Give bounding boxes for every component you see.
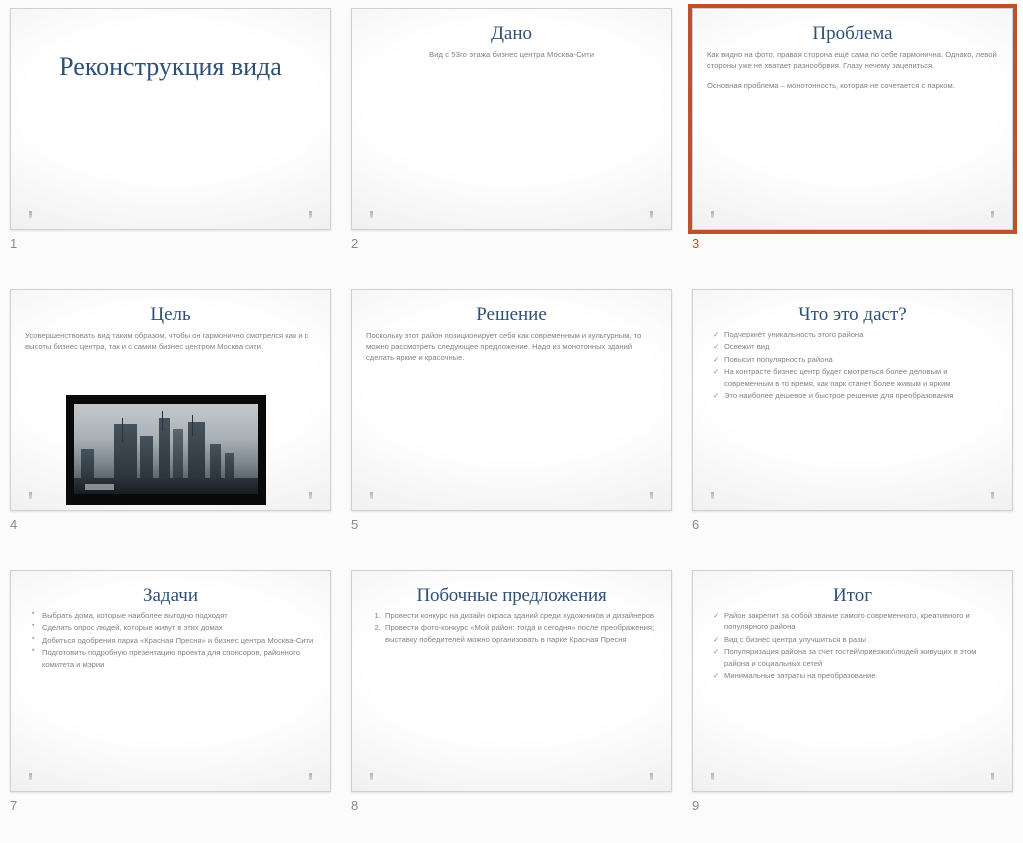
slide-corner-mark-right — [309, 492, 312, 499]
list-item: Освежит вид — [713, 341, 998, 352]
slide-title-7: Задачи — [25, 586, 316, 606]
list-item: Повысит популярность района — [713, 354, 998, 365]
slide-number-7: 7 — [10, 798, 331, 813]
slide-corner-mark-right — [991, 211, 994, 218]
slide-corner-mark-left — [29, 492, 32, 499]
slide-title-9: Итог — [707, 586, 998, 606]
slide-number-9: 9 — [692, 798, 1013, 813]
slide-thumbnail-4[interactable]: Цель Усовершенствовать вид таким образом… — [10, 289, 331, 511]
list-item: Это наиболее дешевое и быстрое решение д… — [713, 390, 998, 401]
slide-bullet-list: Район закрепит за собой звание самого со… — [707, 610, 998, 681]
slide-corner-mark-left — [711, 773, 714, 780]
list-item: Выбрать дома, которые наиболее выгодно п… — [31, 610, 316, 621]
slide-corner-mark-right — [309, 211, 312, 218]
list-item: Вид с бизнес центра улучшиться в разы — [713, 634, 998, 645]
slide-cell-6[interactable]: Что это даст? Подчеркнёт уникальность эт… — [682, 281, 1023, 562]
slide-number-2: 2 — [351, 236, 672, 251]
slide-thumbnail-3[interactable]: Проблема Как видно на фото, правая сторо… — [692, 8, 1013, 230]
slide-number-4: 4 — [10, 517, 331, 532]
slide-thumbnail-6[interactable]: Что это даст? Подчеркнёт уникальность эт… — [692, 289, 1013, 511]
slide-title-5: Решение — [366, 305, 657, 325]
list-item: Провести фото-конкурс «Мой район: тогда … — [383, 622, 657, 645]
photo-watermark — [85, 484, 114, 490]
slide-title-6: Что это даст? — [707, 305, 998, 325]
slide-corner-mark-left — [370, 492, 373, 499]
slide-thumbnail-1[interactable]: Реконструкция вида — [10, 8, 331, 230]
slide-corner-mark-left — [29, 211, 32, 218]
slide-paragraph-1: Усовершенствовать вид таким образом, что… — [25, 330, 316, 352]
list-item: На контрасте бизнес центр будет смотреть… — [713, 366, 998, 389]
slide-subtitle-2: Вид с 53го этажа бизнес центра Москва-Си… — [366, 50, 657, 59]
slide-corner-mark-right — [650, 492, 653, 499]
slide-corner-mark-left — [711, 492, 714, 499]
slide-title-2: Дано — [366, 24, 657, 44]
list-item: Популяризация района за счет гостей\прие… — [713, 646, 998, 669]
slide-paragraph-2: Основная проблема – монотонность, котора… — [707, 80, 998, 91]
slide-title-4: Цель — [25, 305, 316, 325]
slide-thumbnail-9[interactable]: Итог Район закрепит за собой звание само… — [692, 570, 1013, 792]
slide-grid: Реконструкция вида 1 Дано Вид с 53го эта… — [0, 0, 1023, 843]
list-item: Подчеркнёт уникальность этого района — [713, 329, 998, 340]
slide-corner-mark-right — [650, 773, 653, 780]
slide-title-3: Проблема — [707, 24, 998, 44]
slide-cell-7[interactable]: Задачи Выбрать дома, которые наиболее вы… — [0, 562, 341, 843]
slide-number-5: 5 — [351, 517, 672, 532]
moscow-city-towers-image — [66, 395, 266, 505]
list-item: Добиться одобрения парка «Красная Пресня… — [31, 635, 316, 646]
list-item: Провести конкурс на дизайн окраса зданий… — [383, 610, 657, 621]
list-item: Сделать опрос людей, которые живут в эти… — [31, 622, 316, 633]
slide-bullet-list: Выбрать дома, которые наиболее выгодно п… — [25, 610, 316, 670]
slide-corner-mark-right — [991, 492, 994, 499]
slide-thumbnail-5[interactable]: Решение Поскольку этот район позициониру… — [351, 289, 672, 511]
slide-cell-4[interactable]: Цель Усовершенствовать вид таким образом… — [0, 281, 341, 562]
slide-cell-1[interactable]: Реконструкция вида 1 — [0, 0, 341, 281]
slide-cell-3[interactable]: Проблема Как видно на фото, правая сторо… — [682, 0, 1023, 281]
slide-corner-mark-left — [370, 211, 373, 218]
slide-corner-mark-right — [991, 773, 994, 780]
list-item: Подготовить подробную презентацию проект… — [31, 647, 316, 670]
slide-number-6: 6 — [692, 517, 1013, 532]
slide-number-3: 3 — [692, 236, 1013, 251]
list-item: Минимальные затраты на преобразование — [713, 670, 998, 681]
slide-numbered-list: Провести конкурс на дизайн окраса зданий… — [366, 610, 657, 645]
slide-cell-9[interactable]: Итог Район закрепит за собой звание само… — [682, 562, 1023, 843]
slide-cell-5[interactable]: Решение Поскольку этот район позициониру… — [341, 281, 682, 562]
slide-thumbnail-8[interactable]: Побочные предложения Провести конкурс на… — [351, 570, 672, 792]
slide-corner-mark-left — [370, 773, 373, 780]
slide-cell-2[interactable]: Дано Вид с 53го этажа бизнес центра Моск… — [341, 0, 682, 281]
slide-corner-mark-left — [29, 773, 32, 780]
slide-number-8: 8 — [351, 798, 672, 813]
slide-thumbnail-7[interactable]: Задачи Выбрать дома, которые наиболее вы… — [10, 570, 331, 792]
slide-paragraph-1: Как видно на фото, правая сторона ещё са… — [707, 49, 998, 71]
list-item: Район закрепит за собой звание самого со… — [713, 610, 998, 633]
towers-photo-inner — [74, 404, 258, 494]
slide-bullet-list: Подчеркнёт уникальность этого района Осв… — [707, 329, 998, 401]
slide-number-1: 1 — [10, 236, 331, 251]
slide-corner-mark-right — [650, 211, 653, 218]
slide-title-1: Реконструкция вида — [25, 53, 316, 80]
slide-corner-mark-left — [711, 211, 714, 218]
slide-paragraph-1: Поскольку этот район позиционирует себя … — [366, 330, 657, 363]
slide-title-8: Побочные предложения — [366, 586, 657, 606]
slide-corner-mark-right — [309, 773, 312, 780]
slide-thumbnail-2[interactable]: Дано Вид с 53го этажа бизнес центра Моск… — [351, 8, 672, 230]
slide-cell-8[interactable]: Побочные предложения Провести конкурс на… — [341, 562, 682, 843]
